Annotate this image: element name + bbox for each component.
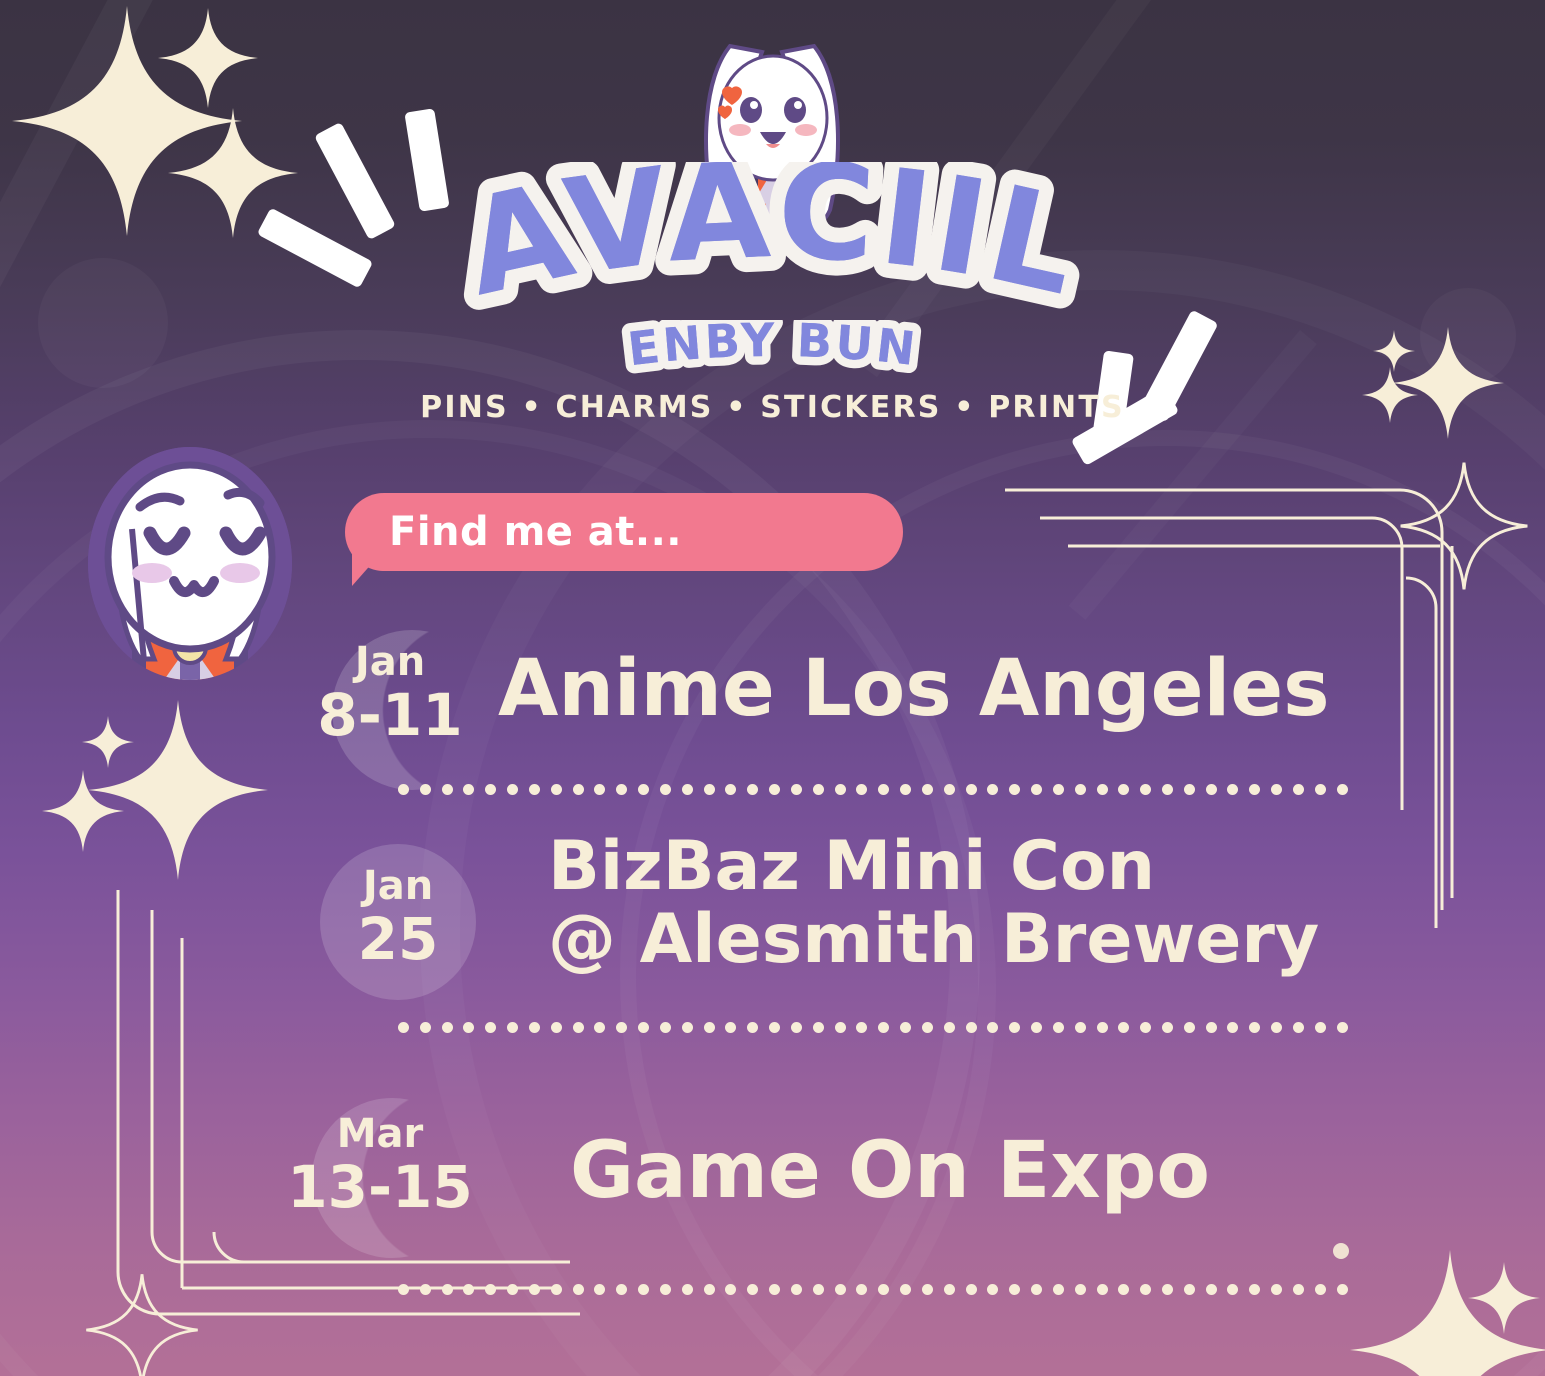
event-title-line1: BizBaz Mini Con xyxy=(548,832,1319,901)
divider-dot xyxy=(1293,784,1304,795)
divider-dot xyxy=(573,1284,584,1295)
divider-dot xyxy=(485,784,496,795)
brand-tagline: PINS • CHARMS • STICKERS • PRINTS xyxy=(420,390,1125,425)
divider-dot xyxy=(682,1022,693,1033)
event-row[interactable]: Mar 13-15 Game On Expo xyxy=(0,1056,1545,1288)
divider-dot xyxy=(507,1284,518,1295)
divider-dot xyxy=(1184,784,1195,795)
divider-dot xyxy=(1271,1284,1282,1295)
divider-dot xyxy=(704,1022,715,1033)
divider-dot xyxy=(1053,1022,1064,1033)
divider-dot xyxy=(529,1284,540,1295)
divider-dot xyxy=(507,1022,518,1033)
divider-dot xyxy=(398,784,409,795)
divider-dot xyxy=(966,784,977,795)
divider-dot xyxy=(442,1022,453,1033)
event-date-month: Jan xyxy=(308,866,488,906)
callout-bubble: Find me at... xyxy=(345,493,903,571)
divider-dot xyxy=(835,1022,846,1033)
divider-dot xyxy=(769,784,780,795)
divider-dot xyxy=(747,784,758,795)
event-date: Jan 8-11 xyxy=(300,642,480,744)
divider-dot xyxy=(813,1284,824,1295)
divider-dot xyxy=(420,1022,431,1033)
divider-dot xyxy=(616,1022,627,1033)
divider-dot xyxy=(1118,1284,1129,1295)
divider-dot xyxy=(1249,1022,1260,1033)
event-date-day: 13-15 xyxy=(280,1158,480,1216)
divider-dot xyxy=(856,784,867,795)
divider-dot xyxy=(1031,1284,1042,1295)
divider-dot xyxy=(704,784,715,795)
divider-dot xyxy=(638,1284,649,1295)
divider-dot xyxy=(398,1284,409,1295)
divider-dot xyxy=(1009,784,1020,795)
divider-dot xyxy=(1184,1284,1195,1295)
divider-dot xyxy=(507,784,518,795)
divider-dot xyxy=(769,1022,780,1033)
divider-dot xyxy=(1293,1284,1304,1295)
divider-dot xyxy=(1271,1022,1282,1033)
event-divider-dots xyxy=(398,782,1348,796)
divider-dot xyxy=(835,784,846,795)
divider-dot xyxy=(529,1022,540,1033)
divider-dot xyxy=(944,1022,955,1033)
divider-dot xyxy=(573,1022,584,1033)
events-list: Jan 8-11 Anime Los Angeles Jan 25 BizBaz… xyxy=(0,612,1545,1288)
divider-dot xyxy=(987,784,998,795)
divider-dot xyxy=(747,1284,758,1295)
divider-dot xyxy=(1337,1022,1348,1033)
divider-dot xyxy=(463,1022,474,1033)
divider-dot xyxy=(1097,1284,1108,1295)
svg-text:ENBY BUN: ENBY BUN xyxy=(625,320,921,376)
divider-dot xyxy=(1162,1284,1173,1295)
divider-dot xyxy=(682,784,693,795)
divider-dot xyxy=(856,1022,867,1033)
divider-dot xyxy=(922,1284,933,1295)
divider-dot xyxy=(1097,784,1108,795)
four-point-sparkle-icon xyxy=(1362,367,1418,423)
divider-dot xyxy=(463,784,474,795)
divider-dot xyxy=(1184,1022,1195,1033)
divider-dot xyxy=(987,1022,998,1033)
divider-dot xyxy=(1162,784,1173,795)
callout-label: Find me at... xyxy=(345,509,682,555)
divider-dot xyxy=(638,784,649,795)
divider-dot xyxy=(1009,1022,1020,1033)
divider-dot xyxy=(594,1022,605,1033)
event-title-line2: @ Alesmith Brewery xyxy=(548,905,1319,974)
divider-dot xyxy=(966,1284,977,1295)
divider-dot xyxy=(835,1284,846,1295)
event-date-month: Jan xyxy=(300,642,480,682)
divider-dot xyxy=(1053,784,1064,795)
divider-dot xyxy=(442,784,453,795)
divider-dot xyxy=(1075,784,1086,795)
divider-dot xyxy=(1009,1284,1020,1295)
event-title-line1: Anime Los Angeles xyxy=(498,644,1330,734)
divider-dot xyxy=(966,1022,977,1033)
divider-dot xyxy=(1075,1284,1086,1295)
divider-dot xyxy=(1118,1022,1129,1033)
divider-dot xyxy=(463,1284,474,1295)
four-point-sparkle-icon xyxy=(1373,330,1415,372)
event-title: Game On Expo xyxy=(570,1132,1210,1212)
event-date-day: 8-11 xyxy=(300,686,480,744)
divider-dot xyxy=(594,1284,605,1295)
event-date-month: Mar xyxy=(280,1114,480,1154)
divider-dot xyxy=(1315,1284,1326,1295)
background-blob-1 xyxy=(38,258,168,388)
divider-dot xyxy=(1140,1284,1151,1295)
divider-dot xyxy=(529,784,540,795)
divider-dot xyxy=(900,1022,911,1033)
divider-dot xyxy=(922,784,933,795)
divider-dot xyxy=(573,784,584,795)
divider-dot xyxy=(1140,1022,1151,1033)
divider-dot xyxy=(900,784,911,795)
four-point-sparkle-icon xyxy=(158,8,258,108)
divider-dot xyxy=(1337,1284,1348,1295)
divider-dot xyxy=(1337,784,1348,795)
divider-dot xyxy=(813,784,824,795)
divider-dot xyxy=(1249,1284,1260,1295)
poster-canvas: AVACIIL AVACIIL ENBY BUN ENBY BUN xyxy=(0,0,1545,1376)
divider-dot xyxy=(551,1022,562,1033)
divider-dot xyxy=(1140,784,1151,795)
divider-dot xyxy=(1206,1284,1217,1295)
divider-dot xyxy=(1293,1022,1304,1033)
divider-dot xyxy=(551,1284,562,1295)
divider-dot xyxy=(878,1022,889,1033)
divider-dot xyxy=(1315,784,1326,795)
divider-dot xyxy=(725,784,736,795)
divider-dot xyxy=(769,1284,780,1295)
divider-dot xyxy=(442,1284,453,1295)
divider-dot xyxy=(944,784,955,795)
event-date: Mar 13-15 xyxy=(280,1114,480,1216)
divider-dot xyxy=(594,784,605,795)
divider-dot xyxy=(682,1284,693,1295)
divider-dot xyxy=(485,1022,496,1033)
divider-dot xyxy=(660,1284,671,1295)
divider-dot xyxy=(944,1284,955,1295)
divider-dot xyxy=(922,1022,933,1033)
event-date: Jan 25 xyxy=(308,866,488,968)
divider-dot xyxy=(616,1284,627,1295)
divider-dot xyxy=(1097,1022,1108,1033)
divider-dot xyxy=(725,1284,736,1295)
divider-dot xyxy=(420,1284,431,1295)
divider-dot xyxy=(1206,784,1217,795)
divider-dot xyxy=(1271,784,1282,795)
divider-dot xyxy=(813,1022,824,1033)
event-divider-dots xyxy=(398,1020,1348,1034)
event-divider-dots xyxy=(398,1282,1348,1296)
divider-dot xyxy=(1315,1022,1326,1033)
divider-dot xyxy=(878,1284,889,1295)
divider-dot xyxy=(791,784,802,795)
divider-dot xyxy=(616,784,627,795)
event-title: Anime Los Angeles xyxy=(498,650,1330,730)
divider-dot xyxy=(1053,1284,1064,1295)
event-row[interactable]: Jan 25 BizBaz Mini Con @ Alesmith Brewer… xyxy=(0,824,1545,1056)
divider-dot xyxy=(398,1022,409,1033)
divider-dot xyxy=(1206,1022,1217,1033)
divider-dot xyxy=(856,1284,867,1295)
event-date-day: 25 xyxy=(308,910,488,968)
divider-dot xyxy=(1227,784,1238,795)
divider-dot xyxy=(900,1284,911,1295)
divider-dot xyxy=(987,1284,998,1295)
event-title-line1: Game On Expo xyxy=(570,1126,1210,1216)
divider-dot xyxy=(1249,784,1260,795)
svg-text:AVACIIL: AVACIIL xyxy=(451,162,1094,326)
divider-dot xyxy=(1031,784,1042,795)
divider-dot xyxy=(551,784,562,795)
divider-dot xyxy=(420,784,431,795)
divider-dot xyxy=(1118,784,1129,795)
divider-dot xyxy=(1075,1022,1086,1033)
divider-dot xyxy=(638,1022,649,1033)
divider-dot xyxy=(704,1284,715,1295)
divider-dot xyxy=(878,784,889,795)
divider-dot xyxy=(791,1022,802,1033)
divider-dot xyxy=(485,1284,496,1295)
divider-dot xyxy=(791,1284,802,1295)
divider-dot xyxy=(1227,1022,1238,1033)
divider-dot xyxy=(1031,1022,1042,1033)
event-title: BizBaz Mini Con @ Alesmith Brewery xyxy=(548,832,1319,975)
event-row[interactable]: Jan 8-11 Anime Los Angeles xyxy=(0,612,1545,824)
divider-dot xyxy=(660,784,671,795)
divider-dot xyxy=(747,1022,758,1033)
divider-dot xyxy=(660,1022,671,1033)
divider-dot xyxy=(1227,1284,1238,1295)
divider-dot xyxy=(725,1022,736,1033)
divider-dot xyxy=(1162,1022,1173,1033)
